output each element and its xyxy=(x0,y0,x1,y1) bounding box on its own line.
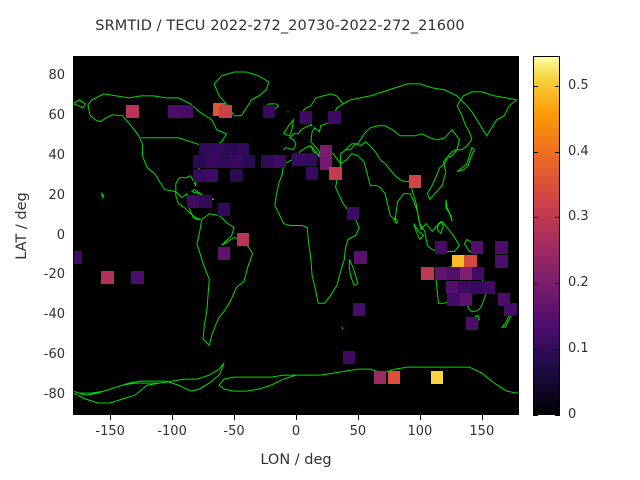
heatmap-cell xyxy=(181,105,193,118)
heatmap-cell xyxy=(261,155,273,168)
heatmap-cell xyxy=(193,155,205,168)
y-axis-tick xyxy=(73,76,78,77)
x-axis-tick xyxy=(234,415,235,420)
heatmap-cell xyxy=(73,251,82,264)
colorbar xyxy=(533,56,560,415)
x-tick-label: -50 xyxy=(204,424,264,439)
y-axis-tick xyxy=(73,196,78,197)
x-axis-title: LON / deg xyxy=(73,452,519,468)
figure-canvas: SRMTID / TECU 2022-272_20730-2022-272_21… xyxy=(0,0,640,480)
x-axis-tick xyxy=(234,56,235,61)
heatmap-cell xyxy=(218,155,230,168)
heatmap-cell xyxy=(353,303,365,316)
y-axis-tick xyxy=(514,116,519,117)
y-axis-tick xyxy=(73,116,78,117)
heatmap-cell xyxy=(306,167,318,180)
colorbar-tick-label: 0.1 xyxy=(568,341,618,356)
y-axis-tick xyxy=(514,156,519,157)
heatmap-cell xyxy=(206,155,218,168)
heatmap-cell xyxy=(421,267,433,280)
y-axis-tick xyxy=(514,76,519,77)
heatmap-cell xyxy=(460,267,472,280)
y-tick-label: -60 xyxy=(21,347,65,362)
y-axis-tick xyxy=(73,275,78,276)
heatmap-cell xyxy=(347,207,359,220)
heatmap-cell xyxy=(199,195,211,208)
x-tick-label: 100 xyxy=(390,424,450,439)
heatmap-cell xyxy=(495,255,507,268)
heatmap-cell xyxy=(274,155,286,168)
heatmap-cell xyxy=(230,155,242,168)
heatmap-cell xyxy=(472,267,484,280)
colorbar-tick xyxy=(555,349,560,350)
heatmap-cell xyxy=(460,293,472,306)
heatmap-cell xyxy=(343,351,355,364)
x-tick-label: -100 xyxy=(142,424,202,439)
heatmap-cell xyxy=(218,203,230,216)
heatmap-cell xyxy=(237,233,249,246)
heatmap-cell xyxy=(466,317,478,330)
colorbar-tick xyxy=(533,152,538,153)
heatmap-cell xyxy=(206,169,218,182)
colorbar-tick xyxy=(533,415,538,416)
heatmap-cell xyxy=(187,195,199,208)
y-axis-title: LAT / deg xyxy=(14,166,30,286)
x-axis-tick xyxy=(420,56,421,61)
colorbar-tick xyxy=(533,349,538,350)
y-tick-label: 80 xyxy=(21,68,65,83)
heatmap-cell xyxy=(388,371,400,384)
colorbar-tick xyxy=(555,152,560,153)
heatmap-cell xyxy=(354,251,366,264)
heatmap-cell xyxy=(126,105,138,118)
colorbar-tick xyxy=(533,283,538,284)
y-axis-tick xyxy=(514,275,519,276)
x-tick-label: 0 xyxy=(266,424,326,439)
y-axis-tick xyxy=(514,315,519,316)
heatmap-cell xyxy=(243,155,255,168)
y-tick-label: 40 xyxy=(21,148,65,163)
x-tick-label: 50 xyxy=(328,424,388,439)
colorbar-tick xyxy=(555,86,560,87)
heatmap-cell xyxy=(300,111,312,124)
x-tick-label: -150 xyxy=(80,424,140,439)
x-axis-tick xyxy=(110,415,111,420)
heatmap-cell xyxy=(329,167,341,180)
heatmap-cell xyxy=(193,169,205,182)
y-axis-tick xyxy=(73,315,78,316)
heatmap-cell xyxy=(471,241,483,254)
heatmap-cell xyxy=(435,267,447,280)
colorbar-tick-label: 0.3 xyxy=(568,209,618,224)
y-tick-label: -80 xyxy=(21,387,65,402)
heatmap-cell xyxy=(435,241,447,254)
y-axis-tick xyxy=(73,395,78,396)
heatmap-cell xyxy=(131,271,143,284)
heatmap-cell xyxy=(374,371,386,384)
colorbar-tick-label: 0.5 xyxy=(568,78,618,93)
y-axis-tick xyxy=(514,355,519,356)
colorbar-tick xyxy=(555,217,560,218)
heatmap-cell xyxy=(409,175,421,188)
x-tick-label: 150 xyxy=(452,424,512,439)
y-tick-label: 60 xyxy=(21,108,65,123)
x-axis-tick xyxy=(172,415,173,420)
colorbar-tick-label: 0.4 xyxy=(568,144,618,159)
x-axis-tick xyxy=(358,415,359,420)
colorbar-tick xyxy=(555,283,560,284)
colorbar-tick-label: 0.2 xyxy=(568,275,618,290)
heatmap-cell xyxy=(305,153,317,166)
heatmap-cell xyxy=(431,371,443,384)
y-axis-tick xyxy=(514,196,519,197)
y-axis-tick xyxy=(73,236,78,237)
y-axis-tick xyxy=(514,236,519,237)
x-axis-tick xyxy=(482,56,483,61)
y-axis-tick xyxy=(73,355,78,356)
heatmap-cell xyxy=(292,153,304,166)
heatmap-cell xyxy=(483,281,495,294)
x-axis-tick xyxy=(296,56,297,61)
colorbar-tick xyxy=(533,86,538,87)
heatmap-cell-layer xyxy=(73,56,519,415)
colorbar-tick xyxy=(533,217,538,218)
x-axis-tick xyxy=(172,56,173,61)
heatmap-cell xyxy=(495,241,507,254)
y-axis-tick xyxy=(73,156,78,157)
y-axis-tick xyxy=(514,395,519,396)
heatmap-cell xyxy=(504,303,516,316)
colorbar-tick-label: 0 xyxy=(568,407,618,422)
heatmap-cell xyxy=(328,111,340,124)
heatmap-cell xyxy=(471,281,483,294)
heatmap-cell xyxy=(263,105,275,118)
heatmap-cell xyxy=(447,267,459,280)
page-title: SRMTID / TECU 2022-272_20730-2022-272_21… xyxy=(0,18,560,34)
heatmap-cell xyxy=(447,293,459,306)
y-tick-label: -40 xyxy=(21,307,65,322)
x-axis-tick xyxy=(358,56,359,61)
map-plot-area xyxy=(73,56,519,415)
x-axis-tick xyxy=(482,415,483,420)
colorbar-tick xyxy=(555,415,560,416)
heatmap-cell xyxy=(101,271,113,284)
heatmap-cell xyxy=(219,105,231,118)
heatmap-cell xyxy=(230,169,242,182)
x-axis-tick xyxy=(110,56,111,61)
heatmap-cell xyxy=(218,247,230,260)
heatmap-cell xyxy=(168,105,180,118)
x-axis-tick xyxy=(420,415,421,420)
x-axis-tick xyxy=(296,415,297,420)
